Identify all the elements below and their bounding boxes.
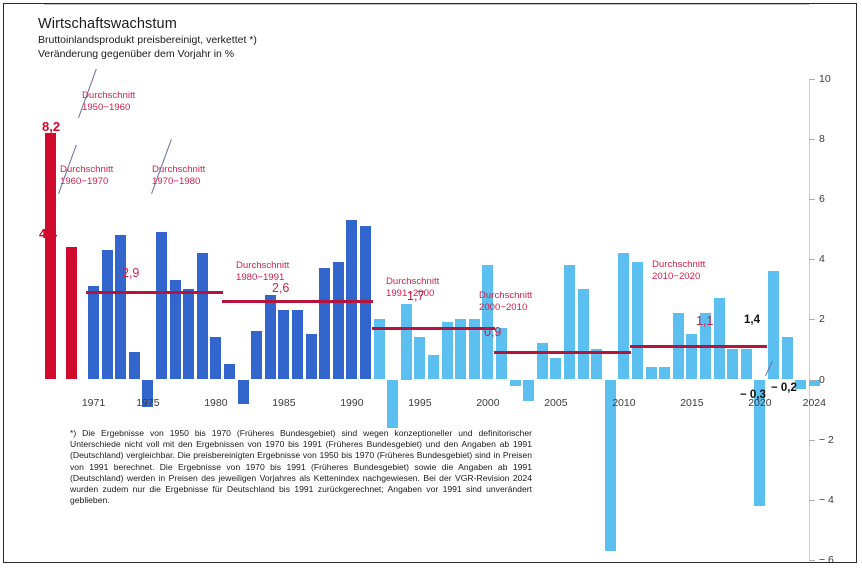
x-tick-label: 2024 [803,397,826,409]
decade-value-label: 4,4 [39,226,57,241]
point-value-label: 1,4 [744,314,760,326]
average-line [630,345,767,348]
bar [387,380,398,428]
x-tick-label: 2010 [612,397,635,409]
bar [428,355,439,379]
y-tick-label: 8 [819,133,825,145]
bar [265,295,276,379]
bar [333,262,344,379]
x-tick-label: 1980 [204,397,227,409]
average-value-label: 1,7 [407,289,424,303]
bar [618,253,629,379]
average-line [222,300,373,303]
y-tick-label: 4 [819,253,825,265]
bar [102,250,113,379]
y-tick [809,380,815,381]
average-value-label: 0,9 [484,325,501,339]
average-line [372,327,496,330]
bar [482,265,493,379]
point-value-label: − 0,2 [771,382,797,394]
bar [741,349,752,379]
bar [251,331,262,379]
bar [129,352,140,379]
bar [401,304,412,379]
y-tick [809,139,815,140]
point-value-label: − 0,3 [740,389,766,401]
bar [183,289,194,379]
bar [414,337,425,379]
bar [632,262,643,379]
bar [306,334,317,379]
average-annotation-label: Durchschnitt [386,276,439,288]
y-tick [809,500,815,501]
bar [115,235,126,379]
y-tick [809,440,815,441]
y-tick-label: 0 [819,374,825,386]
average-annotation: Durchschnitt1980−1991 [236,260,289,283]
bar [646,367,657,379]
bar [510,380,521,386]
x-tick-label: 2000 [476,397,499,409]
bar [238,380,249,404]
bar [564,265,575,379]
y-tick-label: 2 [819,313,825,325]
y-tick-label: − 2 [819,434,834,446]
bar [659,367,670,379]
chart-frame: Wirtschaftswachstum Bruttoinlandsprodukt… [3,3,857,563]
bar [578,289,589,379]
average-annotation-period: 1970−1980 [152,176,205,188]
x-tick-label: 1971 [82,397,105,409]
bar [686,334,697,379]
average-annotation: Durchschnitt2010−2020 [652,259,705,282]
x-tick-label: 1975 [136,397,159,409]
average-annotation: Durchschnitt2000−2010 [479,290,532,313]
bar [523,380,534,401]
footnote: *) Die Ergebnisse von 1950 bis 1970 (Frü… [70,428,532,506]
average-annotation-period: 2010−2020 [652,271,705,283]
x-tick-label: 1995 [408,397,431,409]
bar [550,358,561,379]
average-annotation-period: 1960−1970 [60,176,113,188]
y-tick-label: 10 [819,73,831,85]
decade-value-label: 8,2 [42,119,60,134]
bar [537,343,548,379]
bar [360,226,371,379]
average-annotation: Durchschnitt1950−1960 [82,90,135,113]
x-tick-label: 2005 [544,397,567,409]
average-annotation-label: Durchschnitt [236,260,289,272]
bar [278,310,289,379]
y-tick-label: − 4 [819,494,834,506]
bar [224,364,235,379]
bar [292,310,303,379]
x-tick-label: 1985 [272,397,295,409]
bar [782,337,793,379]
bar [156,232,167,379]
bar [197,253,208,379]
bar [170,280,181,379]
decade-average-bar [45,133,56,379]
average-value-label: 1,1 [696,314,713,328]
bar [88,286,99,379]
average-line [494,351,631,354]
y-tick [809,79,815,80]
y-tick [809,199,815,200]
average-line [86,291,223,294]
average-value-label: 2,6 [272,281,289,295]
average-annotation-label: Durchschnitt [652,259,705,271]
x-tick-label: 2015 [680,397,703,409]
bar [210,337,221,379]
y-tick [809,319,815,320]
average-value-label: 2,9 [122,266,139,280]
y-tick [809,259,815,260]
average-annotation-label: Durchschnitt [479,290,532,302]
y-tick-label: 6 [819,193,825,205]
average-annotation-period: 1950−1960 [82,102,135,114]
bar [442,322,453,379]
y-tick-label: − 6 [819,554,834,566]
bar [319,268,330,379]
average-annotation-period: 2000−2010 [479,302,532,314]
x-tick-label: 1990 [340,397,363,409]
bar [714,298,725,379]
decade-average-bar [66,247,77,379]
zero-baseline [44,4,809,5]
average-annotation-label: Durchschnitt [82,90,135,102]
y-tick [809,560,815,561]
bar [727,349,738,379]
